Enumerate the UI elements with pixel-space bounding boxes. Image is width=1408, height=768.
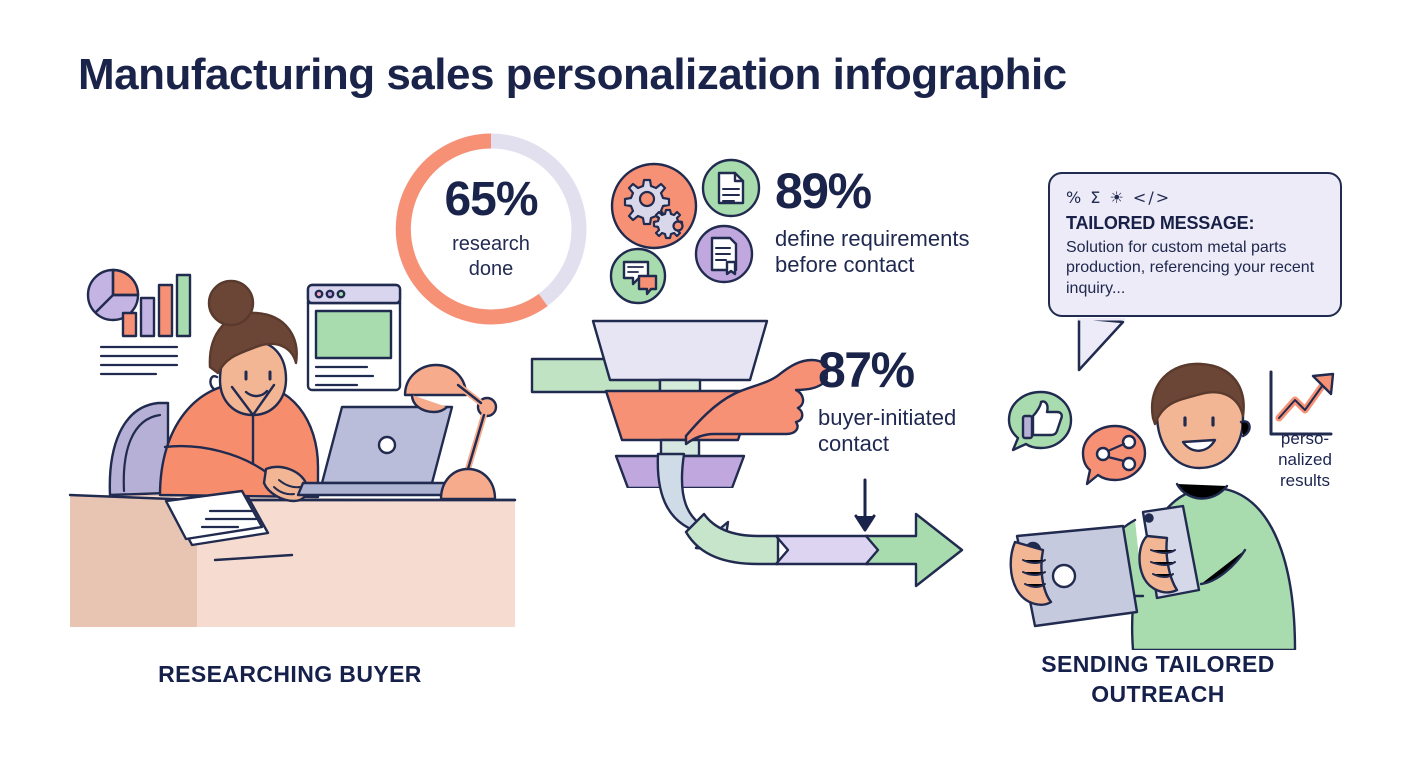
arrow-head xyxy=(866,514,962,586)
caption-right-line2: OUTREACH xyxy=(1091,681,1225,707)
results-line3: results xyxy=(1280,471,1330,490)
browser-window-decoration xyxy=(308,285,400,390)
office-chair xyxy=(110,403,168,495)
icon-cluster xyxy=(606,158,766,308)
stat-requirements-value: 89% xyxy=(775,166,1025,216)
stat-buyer-initiated-caption-line1: buyer-initiated xyxy=(818,405,956,430)
stat-requirements-caption-line2: before contact xyxy=(775,252,914,277)
laptop xyxy=(298,407,457,495)
contract-icon xyxy=(696,226,752,282)
infographic-canvas: Manufacturing sales personalization info… xyxy=(0,0,1408,768)
arrow-segment-3 xyxy=(776,536,880,564)
stat-requirements-caption-line1: define requirements xyxy=(775,226,969,251)
tailored-message-bubble: % Σ ☀ </> TAILORED MESSAGE: Solution for… xyxy=(1048,172,1342,317)
caption-right-line1: SENDING TAILORED xyxy=(1041,651,1274,677)
caption-sending-outreach: SENDING TAILORED OUTREACH xyxy=(1000,650,1316,710)
donut-label-line1: research xyxy=(452,233,530,255)
caption-researching-buyer: RESEARCHING BUYER xyxy=(90,660,490,690)
document-icon xyxy=(703,160,759,216)
gears-icon xyxy=(612,164,696,248)
donut-label: research done xyxy=(452,232,530,282)
message-heading: TAILORED MESSAGE: xyxy=(1066,213,1324,234)
arrow-segment-2 xyxy=(686,514,778,564)
thumbs-up-bubble xyxy=(1009,392,1071,450)
message-body: Solution for custom metal parts producti… xyxy=(1066,238,1324,299)
desk xyxy=(70,495,515,627)
page-title: Manufacturing sales personalization info… xyxy=(78,50,1067,100)
results-line2: nalized xyxy=(1278,450,1332,469)
stat-requirements-caption: define requirements before contact xyxy=(775,226,1025,278)
personalized-results-label: perso- nalized results xyxy=(1262,428,1348,491)
funnel-stage-1 xyxy=(593,321,767,380)
share-bubble xyxy=(1083,426,1145,484)
sending-outreach-illustration xyxy=(995,360,1345,650)
donut-stat-research-done: 65% research done xyxy=(390,128,592,330)
flow-arrow xyxy=(640,452,980,602)
donut-value: 65% xyxy=(444,176,537,224)
chat-bubbles-icon xyxy=(611,249,665,303)
stat-requirements: 89% define requirements before contact xyxy=(775,166,1025,278)
text-lines-decoration xyxy=(101,347,177,374)
results-line1: perso- xyxy=(1281,429,1329,448)
message-symbols: % Σ ☀ </> xyxy=(1066,188,1324,207)
trend-up-chart-icon xyxy=(1271,372,1333,434)
donut-label-line2: done xyxy=(469,258,514,280)
